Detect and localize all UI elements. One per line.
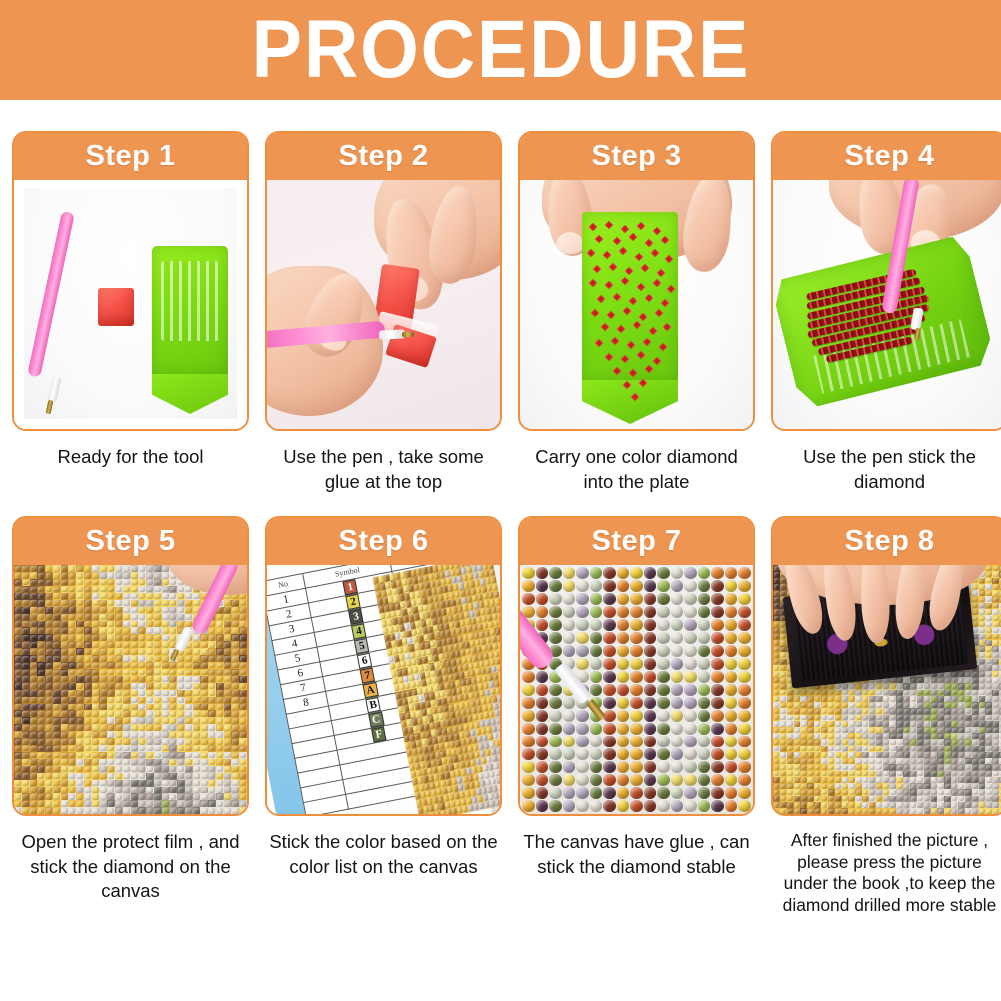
mosaic-cell	[224, 807, 232, 814]
mosaic-cell	[239, 759, 247, 766]
mosaic-cell	[169, 738, 177, 745]
mosaic-cell	[22, 614, 30, 621]
mosaic-cell	[30, 690, 38, 697]
mosaic-cell	[224, 600, 232, 607]
mosaic-cell	[239, 607, 247, 614]
bead-cell	[576, 567, 589, 579]
mosaic-cell	[76, 745, 84, 752]
mosaic-cell	[193, 593, 201, 600]
mosaic-cell	[22, 676, 30, 683]
mosaic-cell	[239, 738, 247, 745]
mosaic-cell	[53, 572, 61, 579]
mosaic-cell	[14, 766, 22, 773]
mosaic-cell	[37, 648, 45, 655]
mosaic-cell	[84, 662, 92, 669]
mosaic-cell	[92, 704, 100, 711]
mosaic-cell	[216, 655, 224, 662]
mosaic-cell	[138, 634, 146, 641]
mosaic-cell	[30, 676, 38, 683]
bead-cell	[617, 761, 630, 773]
mosaic-cell	[200, 710, 208, 717]
mosaic-cell	[76, 683, 84, 690]
mosaic-cell	[45, 600, 53, 607]
mosaic-cell	[208, 662, 216, 669]
mosaic-cell	[177, 773, 185, 780]
mosaic-cell	[68, 607, 76, 614]
mosaic-cell	[231, 780, 239, 787]
mosaic-cell	[61, 738, 69, 745]
bead-cell	[698, 606, 711, 618]
mosaic-cell	[224, 655, 232, 662]
mosaic-cell	[99, 627, 107, 634]
mosaic-cell	[231, 717, 239, 724]
mosaic-cell	[216, 662, 224, 669]
mosaic-cell	[193, 780, 201, 787]
step-card-1[interactable]: Step 1	[12, 131, 249, 431]
step-image-6: NoSymbolDMC11223003330744310555816664677…	[267, 565, 500, 814]
step-card-3[interactable]: Step 3	[518, 131, 755, 431]
mosaic-cell	[76, 807, 84, 814]
mosaic-cell	[146, 586, 154, 593]
bead-cell	[590, 684, 603, 696]
mosaic-cell	[22, 600, 30, 607]
mosaic-cell	[45, 724, 53, 731]
mosaic-cell	[76, 697, 84, 704]
mosaic-cell	[138, 600, 146, 607]
bead-cell	[630, 684, 643, 696]
mosaic-cell	[138, 607, 146, 614]
mosaic-cell	[37, 614, 45, 621]
mosaic-cell	[193, 662, 201, 669]
mosaic-cell	[30, 780, 38, 787]
mosaic-cell	[99, 572, 107, 579]
bead-cell	[522, 774, 535, 786]
bead-cell	[617, 787, 630, 799]
mosaic-cell	[138, 593, 146, 600]
mosaic-cell	[68, 586, 76, 593]
mosaic-cell	[146, 704, 154, 711]
mosaic-cell	[30, 807, 38, 814]
bead-cell	[563, 580, 576, 592]
mosaic-cell	[99, 586, 107, 593]
mosaic-cell	[146, 621, 154, 628]
mosaic-cell	[787, 808, 794, 814]
bead-cell	[603, 567, 616, 579]
mosaic-cell	[14, 565, 22, 572]
bead-cell	[563, 593, 576, 605]
step-header-4: Step 4	[773, 133, 1001, 180]
mosaic-cell	[216, 704, 224, 711]
mosaic-cell	[169, 669, 177, 676]
bead-cell	[536, 619, 549, 631]
bead-cell	[536, 710, 549, 722]
bead-cell	[563, 697, 576, 709]
bead-cell	[657, 761, 670, 773]
mosaic-cell	[146, 738, 154, 745]
step-card-5[interactable]: Step 5	[12, 516, 249, 816]
mosaic-cell	[177, 780, 185, 787]
bead-cell	[563, 567, 576, 579]
mosaic-cell	[177, 704, 185, 711]
mosaic-cell	[53, 676, 61, 683]
bead-cell	[657, 800, 670, 812]
step-card-7[interactable]: Step 7	[518, 516, 755, 816]
mosaic-cell	[76, 717, 84, 724]
mosaic-cell	[84, 607, 92, 614]
mosaic-cell	[61, 593, 69, 600]
mosaic-cell	[99, 648, 107, 655]
bead-cell	[738, 619, 751, 631]
step-caption-7: The canvas have glue , can stick the dia…	[518, 830, 755, 879]
mosaic-cell	[37, 738, 45, 745]
mosaic-cell	[193, 787, 201, 794]
mosaic-cell	[84, 669, 92, 676]
mosaic-cell	[53, 648, 61, 655]
mosaic-cell	[154, 800, 162, 807]
mosaic-cell	[138, 614, 146, 621]
mosaic-cell	[123, 766, 131, 773]
bead-cell	[590, 800, 603, 812]
mosaic-cell	[185, 773, 193, 780]
bead-cell	[522, 748, 535, 760]
mosaic-cell	[169, 627, 177, 634]
step-card-2[interactable]: Step 2	[265, 131, 502, 431]
mosaic-cell	[185, 690, 193, 697]
mosaic-cell	[22, 641, 30, 648]
mosaic-cell	[123, 641, 131, 648]
bead-cell	[576, 645, 589, 657]
bead-cell	[657, 593, 670, 605]
mosaic-cell	[76, 634, 84, 641]
mosaic-cell	[123, 614, 131, 621]
bead-cell	[590, 567, 603, 579]
mosaic-cell	[68, 731, 76, 738]
mosaic-cell	[131, 731, 139, 738]
mosaic-cell	[61, 572, 69, 579]
mosaic-cell	[193, 676, 201, 683]
mosaic-cell	[37, 676, 45, 683]
mosaic-cell	[30, 648, 38, 655]
mosaic-cell	[208, 690, 216, 697]
step-cell-1: Step 1	[12, 131, 249, 494]
bead-cell	[671, 748, 684, 760]
step-cell-4: Step 4	[771, 131, 1001, 494]
mosaic-cell	[138, 717, 146, 724]
mosaic-cell	[99, 745, 107, 752]
bead-cell	[657, 787, 670, 799]
mosaic-cell	[99, 793, 107, 800]
mosaic-cell	[92, 766, 100, 773]
mosaic-cell	[138, 724, 146, 731]
bead-cell	[711, 632, 724, 644]
mosaic-cell	[45, 780, 53, 787]
mosaic-cell	[193, 648, 201, 655]
mosaic-cell	[231, 697, 239, 704]
mosaic-cell	[869, 808, 876, 814]
mosaic-cell	[99, 800, 107, 807]
mosaic-cell	[154, 655, 162, 662]
mosaic-cell	[107, 690, 115, 697]
mosaic-cell	[22, 593, 30, 600]
mosaic-cell	[14, 593, 22, 600]
mosaic-cell	[68, 752, 76, 759]
red-diamond-scatter	[584, 220, 676, 410]
mosaic-cell	[208, 704, 216, 711]
mosaic-cell	[965, 808, 972, 814]
mosaic-cell	[115, 621, 123, 628]
tool-photo	[24, 188, 237, 419]
mosaic-cell	[68, 669, 76, 676]
mosaic-cell	[115, 710, 123, 717]
mosaic-cell	[92, 773, 100, 780]
mosaic-cell	[123, 565, 131, 572]
mosaic-cell	[138, 793, 146, 800]
bead-cell	[738, 736, 751, 748]
bead-cell	[644, 748, 657, 760]
mosaic-cell	[154, 627, 162, 634]
mosaic-cell	[224, 607, 232, 614]
mosaic-cell	[917, 808, 924, 814]
mosaic-cell	[224, 731, 232, 738]
mosaic-cell	[123, 655, 131, 662]
mosaic-cell	[193, 717, 201, 724]
mosaic-cell	[84, 634, 92, 641]
mosaic-cell	[231, 766, 239, 773]
mosaic-cell	[224, 641, 232, 648]
bead-cell	[603, 787, 616, 799]
bead-cell	[684, 671, 697, 683]
mosaic-cell	[61, 579, 69, 586]
bead-cell	[644, 723, 657, 735]
bead-cell	[603, 748, 616, 760]
mosaic-cell	[231, 793, 239, 800]
mosaic-cell	[138, 752, 146, 759]
mosaic-cell	[169, 780, 177, 787]
mosaic-cell	[162, 662, 170, 669]
mosaic-cell	[22, 773, 30, 780]
mosaic-cell	[99, 621, 107, 628]
mosaic-cell	[216, 759, 224, 766]
mosaic-cell	[169, 614, 177, 621]
mosaic-cell	[903, 808, 910, 814]
step-header-7: Step 7	[520, 518, 753, 565]
mosaic-cell	[14, 634, 22, 641]
mosaic-cell	[154, 697, 162, 704]
mosaic-cell	[169, 787, 177, 794]
bead-cell	[711, 567, 724, 579]
step-card-4[interactable]: Step 4	[771, 131, 1001, 431]
mosaic-cell	[138, 738, 146, 745]
mosaic-cell	[208, 773, 216, 780]
mosaic-cell	[193, 704, 201, 711]
mosaic-cell	[162, 710, 170, 717]
mosaic-cell	[84, 627, 92, 634]
mosaic-cell	[37, 593, 45, 600]
mosaic-cell	[224, 780, 232, 787]
mosaic-cell	[99, 752, 107, 759]
bead-cell	[563, 761, 576, 773]
mosaic-cell	[185, 683, 193, 690]
mosaic-cell	[115, 600, 123, 607]
mosaic-cell	[53, 600, 61, 607]
mosaic-cell	[848, 808, 855, 814]
bead-cell	[617, 723, 630, 735]
mosaic-cell	[115, 662, 123, 669]
bead-cell	[671, 684, 684, 696]
bead-cell	[684, 593, 697, 605]
mosaic-cell	[68, 683, 76, 690]
bead-cell	[671, 736, 684, 748]
mosaic-cell	[99, 683, 107, 690]
mosaic-cell	[107, 621, 115, 628]
mosaic-cell	[84, 655, 92, 662]
bead-cell	[522, 684, 535, 696]
mosaic-cell	[123, 676, 131, 683]
mosaic-cell	[30, 600, 38, 607]
mosaic-cell	[200, 634, 208, 641]
bead-cell	[576, 658, 589, 670]
bead-cell	[630, 800, 643, 812]
mosaic-cell	[107, 614, 115, 621]
bead-cell	[549, 710, 562, 722]
mosaic-cell	[30, 745, 38, 752]
mosaic-cell	[22, 607, 30, 614]
mosaic-cell	[200, 759, 208, 766]
mosaic-cell	[22, 662, 30, 669]
mosaic-cell	[208, 655, 216, 662]
step-header-2: Step 2	[267, 133, 500, 180]
mosaic-cell	[84, 614, 92, 621]
mosaic-cell	[22, 766, 30, 773]
mosaic-cell	[61, 731, 69, 738]
mosaic-cell	[115, 641, 123, 648]
mosaic-cell	[68, 593, 76, 600]
mosaic-cell	[30, 704, 38, 711]
bead-cell	[698, 567, 711, 579]
mosaic-cell	[239, 745, 247, 752]
bead-cell	[630, 632, 643, 644]
bead-cell	[698, 723, 711, 735]
mosaic-cell	[123, 724, 131, 731]
mosaic-cell	[99, 773, 107, 780]
mosaic-cell	[76, 780, 84, 787]
mosaic-cell	[53, 697, 61, 704]
mosaic-cell	[146, 690, 154, 697]
mosaic-cell	[794, 808, 801, 814]
mosaic-cell	[131, 780, 139, 787]
mosaic-cell	[37, 565, 45, 572]
mosaic-cell	[193, 683, 201, 690]
step-card-8[interactable]: Step 8	[771, 516, 1001, 816]
mosaic-cell	[146, 669, 154, 676]
mosaic-cell	[22, 745, 30, 752]
mosaic-cell	[193, 773, 201, 780]
mosaic-cell	[146, 731, 154, 738]
mosaic-cell	[169, 690, 177, 697]
bead-cell	[576, 632, 589, 644]
mosaic-cell	[224, 662, 232, 669]
mosaic-cell	[910, 808, 917, 814]
bead-cell	[738, 580, 751, 592]
mosaic-cell	[193, 738, 201, 745]
bead-cell	[671, 787, 684, 799]
mosaic-cell	[131, 766, 139, 773]
step-card-6[interactable]: Step 6 NoSymbolDMC1122300333074431055581…	[265, 516, 502, 816]
bead-cell	[563, 619, 576, 631]
mosaic-cell	[224, 683, 232, 690]
mosaic-cell	[123, 780, 131, 787]
bead-cell	[549, 697, 562, 709]
bead-cell	[698, 684, 711, 696]
mosaic-cell	[61, 655, 69, 662]
mosaic-cell	[14, 641, 22, 648]
mosaic-cell	[154, 648, 162, 655]
bead-cell	[711, 671, 724, 683]
mosaic-cell	[154, 690, 162, 697]
mosaic-cell	[146, 572, 154, 579]
mosaic-cell	[61, 773, 69, 780]
bead-cell	[590, 593, 603, 605]
mosaic-cell	[224, 724, 232, 731]
mosaic-cell	[68, 787, 76, 794]
mosaic-cell	[92, 710, 100, 717]
mosaic-cell	[45, 648, 53, 655]
mosaic-cell	[231, 641, 239, 648]
mosaic-cell	[92, 676, 100, 683]
mosaic-cell	[131, 752, 139, 759]
mosaic-cell	[177, 614, 185, 621]
mosaic-cell	[193, 600, 201, 607]
mosaic-cell	[53, 807, 61, 814]
mosaic-cell	[169, 600, 177, 607]
mosaic-cell	[231, 745, 239, 752]
mosaic-cell	[30, 572, 38, 579]
mosaic-cell	[92, 655, 100, 662]
mosaic-cell	[76, 690, 84, 697]
mosaic-cell	[22, 648, 30, 655]
mosaic-cell	[84, 738, 92, 745]
mosaic-cell	[45, 621, 53, 628]
mosaic-cell	[53, 627, 61, 634]
bead-cell	[630, 774, 643, 786]
mosaic-cell	[162, 655, 170, 662]
mosaic-cell	[239, 641, 247, 648]
mosaic-cell	[131, 648, 139, 655]
bead-cell	[522, 723, 535, 735]
mosaic-cell	[146, 565, 154, 572]
mosaic-cell	[169, 752, 177, 759]
mosaic-cell	[84, 752, 92, 759]
bead-cell	[711, 761, 724, 773]
bead-cell	[657, 697, 670, 709]
mosaic-cell	[30, 759, 38, 766]
mosaic-cell	[814, 808, 821, 814]
mosaic-cell	[944, 808, 951, 814]
mosaic-cell	[107, 579, 115, 586]
mosaic-cell	[37, 793, 45, 800]
mosaic-cell	[177, 683, 185, 690]
mosaic-cell	[154, 766, 162, 773]
mosaic-cell	[107, 607, 115, 614]
mosaic-cell	[99, 697, 107, 704]
mosaic-cell	[107, 634, 115, 641]
mosaic-cell	[115, 717, 123, 724]
mosaic-cell	[45, 690, 53, 697]
bead-cell	[657, 567, 670, 579]
mosaic-cell	[123, 572, 131, 579]
mosaic-cell	[68, 662, 76, 669]
mosaic-cell	[185, 607, 193, 614]
